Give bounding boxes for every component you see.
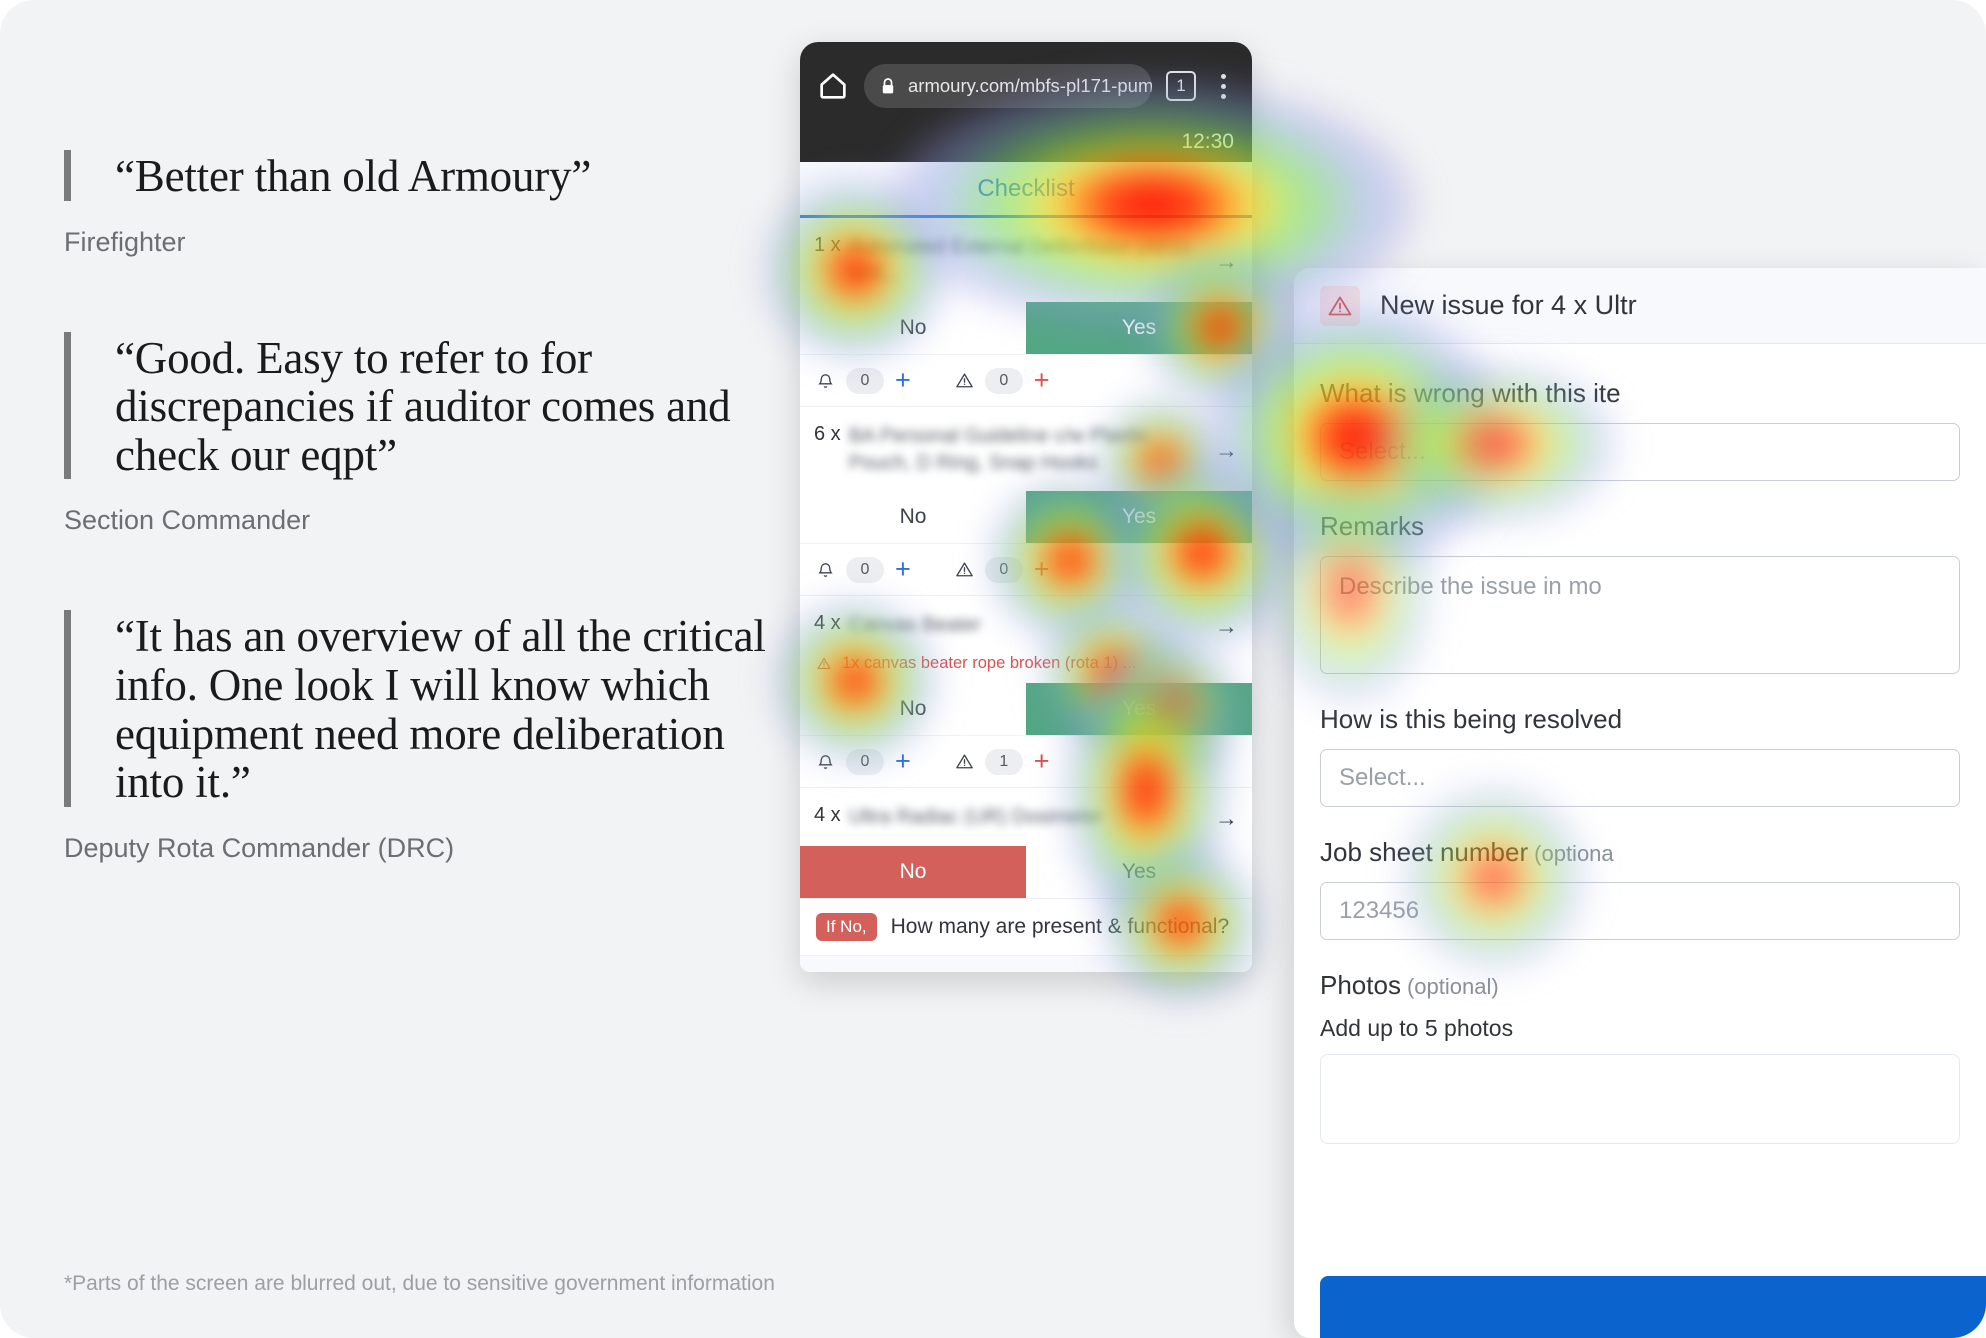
item-quantity: 6 x [814,423,841,446]
testimonial-2: “Good. Easy to refer to for discrepancie… [64,332,784,537]
quote-author: Section Commander [64,505,784,536]
photos-label: Photos(optional) [1320,970,1960,1001]
yes-no-toggle: No Yes [800,846,1252,898]
job-sheet-label: Job sheet number(optiona [1320,837,1960,868]
checklist-list: 1 x Automated External Defibrillator (AE… [800,218,1252,972]
slide-canvas: “Better than old Armoury” Firefighter “G… [0,0,1986,1338]
yes-no-toggle: No Yes [800,302,1252,354]
photo-upload-area[interactable] [1320,1054,1960,1144]
issue-count: 0 [985,557,1023,583]
warning-triangle-icon [1320,286,1360,326]
followup-question-row: If No, How many are present & functional… [800,898,1252,955]
checklist-item: 1 x Automated External Defibrillator (AE… [800,218,1252,407]
submit-issue-button[interactable] [1320,1276,1986,1338]
photos-hint: Add up to 5 photos [1320,1015,1960,1042]
testimonial-1: “Better than old Armoury” Firefighter [64,150,784,258]
photos-optional-tag: (optional) [1407,974,1499,999]
item-name: Automated External Defibrillator (AED) 5… [849,234,1201,288]
item-alert-message: 1x canvas beater rope broken (rota 1) ..… [800,654,1252,683]
quote-accent-bar [64,150,71,201]
no-button[interactable]: No [800,846,1026,898]
checklist-item: 6 x BA Personal Guideline c/w Plastic Po… [800,407,1252,596]
item-quantity: 1 x [814,234,841,257]
yes-button[interactable]: Yes [1026,302,1252,354]
reminder-count: 0 [846,368,884,394]
warning-triangle-icon [955,371,974,390]
item-alert-text: 1x canvas beater rope broken (rota 1) ..… [842,654,1136,673]
quote-text: “It has an overview of all the critical … [115,610,784,806]
bell-icon [816,752,835,771]
warning-triangle-icon [816,656,832,671]
kebab-menu-icon[interactable] [1210,74,1236,99]
item-name: BA Personal Guideline c/w Plastic Pouch,… [849,423,1201,477]
arrow-right-icon[interactable]: → [1209,248,1238,275]
reminder-count: 0 [846,749,884,775]
lock-icon [880,77,896,96]
add-reminder-button[interactable]: + [895,367,911,394]
quote-author: Firefighter [64,227,784,258]
yes-button[interactable]: Yes [1026,683,1252,735]
quote-accent-bar [64,332,71,480]
no-button[interactable]: No [800,491,1026,543]
job-sheet-optional-tag: (optiona [1534,841,1614,866]
quote-author: Deputy Rota Commander (DRC) [64,833,784,864]
item-quantity: 4 x [814,612,841,635]
checklist-item: 4 x Ultra Radiac (UR) Dosimeter → No Yes… [800,788,1252,972]
no-button[interactable]: No [800,683,1026,735]
item-quantity: 4 x [814,804,841,827]
no-button[interactable]: No [800,302,1026,354]
add-reminder-button[interactable]: + [895,748,911,775]
item-name: Ultra Radiac (UR) Dosimeter [849,804,1201,831]
quote-text: “Good. Easy to refer to for discrepancie… [115,332,784,480]
tab-checklist-label: Checklist [977,175,1074,203]
add-issue-button[interactable]: + [1034,367,1050,394]
issue-panel-title: New issue for 4 x Ultr [1380,290,1637,321]
item-counters: 0 + 0 + [800,354,1252,406]
resolution-label: How is this being resolved [1320,704,1960,735]
status-clock: 12:30 [1181,130,1234,154]
job-sheet-label-text: Job sheet number [1320,837,1528,867]
home-icon[interactable] [816,69,850,103]
followup-answer-row[interactable]: 2 [800,955,1252,972]
yes-button[interactable]: Yes [1026,491,1252,543]
add-issue-button[interactable]: + [1034,748,1050,775]
tab-checklist[interactable]: Checklist [800,162,1252,218]
warning-triangle-icon [955,752,974,771]
pencil-icon[interactable] [1214,970,1236,972]
arrow-right-icon[interactable]: → [1209,437,1238,464]
remarks-textarea[interactable]: Describe the issue in mo [1320,556,1960,674]
followup-answer: 2 [816,969,828,972]
if-no-badge: If No, [816,913,877,941]
item-counters: 0 + 0 + [800,543,1252,595]
arrow-right-icon[interactable]: → [1209,613,1238,640]
checklist-item-header[interactable]: 4 x Ultra Radiac (UR) Dosimeter → [800,788,1252,846]
issue-count: 1 [985,749,1023,775]
issue-count: 0 [985,368,1023,394]
url-text: armoury.com/mbfs-pl171-pumpladder [908,75,1152,97]
address-bar[interactable]: armoury.com/mbfs-pl171-pumpladder [864,64,1152,108]
add-issue-button[interactable]: + [1034,556,1050,583]
item-counters: 0 + 1 + [800,735,1252,787]
quote-accent-bar [64,610,71,806]
what-wrong-select[interactable]: Select... [1320,423,1960,481]
what-wrong-label: What is wrong with this ite [1320,378,1960,409]
checklist-item-header[interactable]: 6 x BA Personal Guideline c/w Plastic Po… [800,407,1252,491]
checklist-item-header[interactable]: 4 x Canvas Beater → [800,596,1252,654]
testimonials-column: “Better than old Armoury” Firefighter “G… [64,150,784,938]
arrow-right-icon[interactable]: → [1209,805,1238,832]
yes-no-toggle: No Yes [800,683,1252,735]
browser-chrome: armoury.com/mbfs-pl171-pumpladder 1 12:3… [800,42,1252,162]
quote-text: “Better than old Armoury” [115,150,591,201]
add-reminder-button[interactable]: + [895,556,911,583]
remarks-label: Remarks [1320,511,1960,542]
photos-label-text: Photos [1320,970,1401,1000]
blur-disclaimer-footnote: *Parts of the screen are blurred out, du… [64,1272,775,1296]
bell-icon [816,371,835,390]
resolution-select[interactable]: Select... [1320,749,1960,807]
phone-screenshot: armoury.com/mbfs-pl171-pumpladder 1 12:3… [800,42,1252,972]
testimonial-3: “It has an overview of all the critical … [64,610,784,863]
yes-button[interactable]: Yes [1026,846,1252,898]
yes-no-toggle: No Yes [800,491,1252,543]
bell-icon [816,560,835,579]
followup-question: How many are present & functional? [891,915,1230,939]
reminder-count: 0 [846,557,884,583]
job-sheet-input[interactable]: 123456 [1320,882,1960,940]
issue-form: What is wrong with this ite Select... Re… [1294,344,1986,1144]
warning-triangle-icon [955,560,974,579]
new-issue-panel: New issue for 4 x Ultr What is wrong wit… [1294,268,1986,1338]
checklist-item-header[interactable]: 1 x Automated External Defibrillator (AE… [800,218,1252,302]
tab-count-button[interactable]: 1 [1166,71,1196,101]
issue-panel-header: New issue for 4 x Ultr [1294,268,1986,344]
checklist-item: 4 x Canvas Beater → 1x canvas beater rop… [800,596,1252,788]
item-name: Canvas Beater [849,612,1201,639]
